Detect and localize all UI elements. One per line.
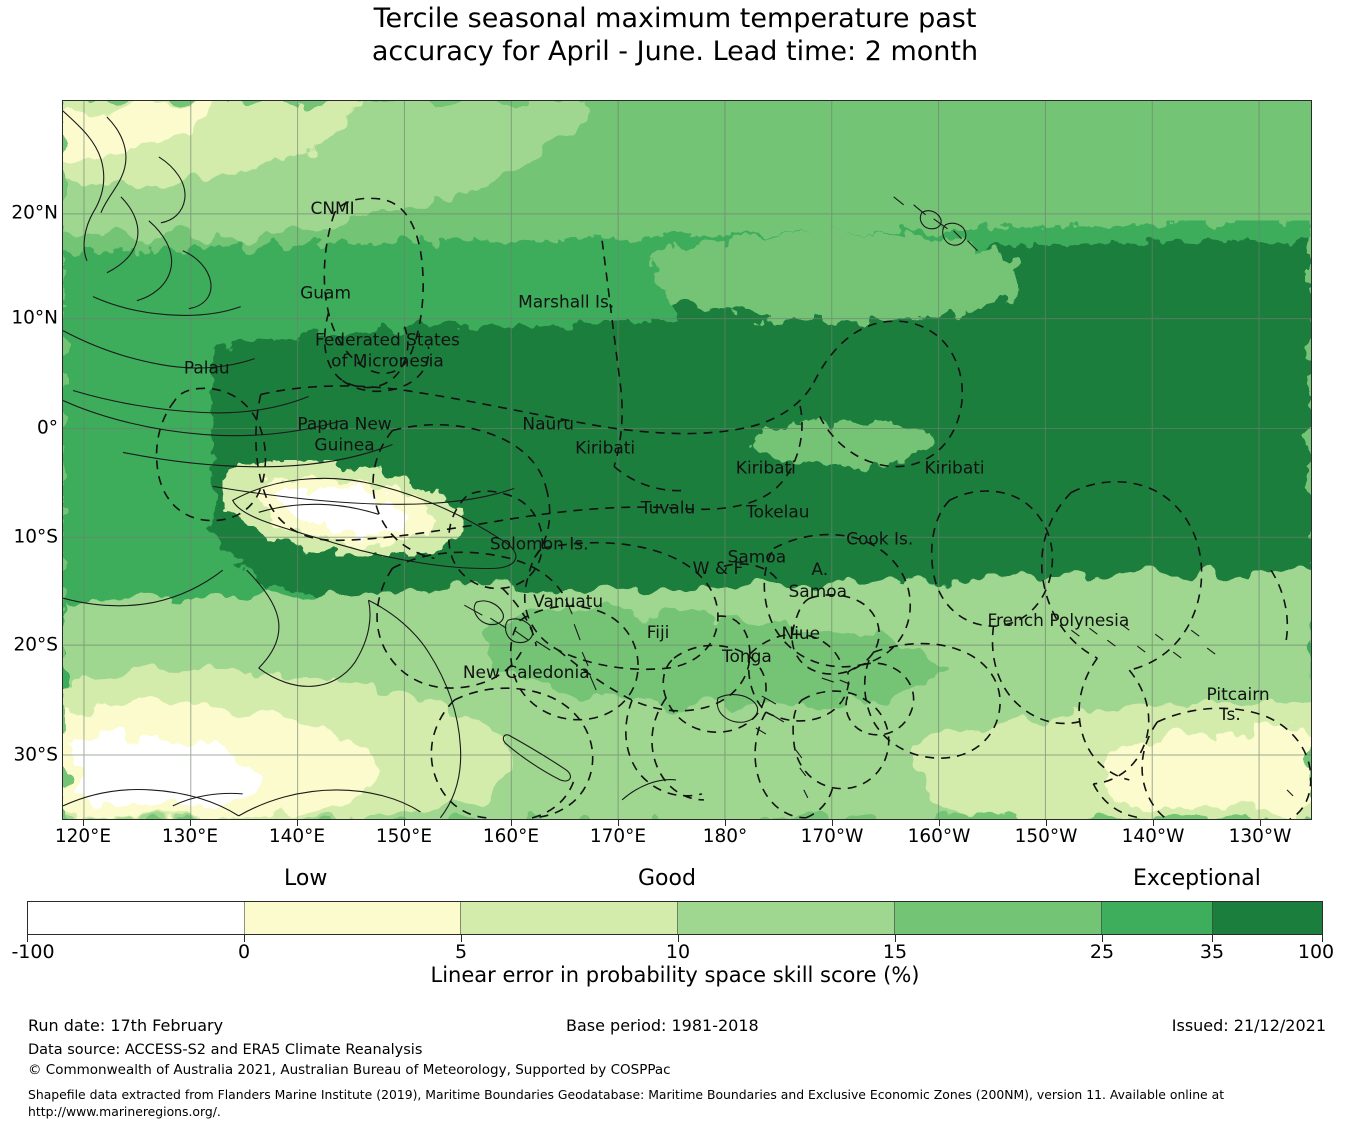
region-label: A. [811,560,828,580]
colorbar-tick-label: 35 [1200,941,1224,963]
region-label: Fiji [647,623,670,643]
y-axis-tick-label: 10°N [11,308,58,329]
run-date-text: Run date: 17th February [28,1016,223,1035]
x-axis-tick-label: 180° [703,826,748,847]
x-axis-tick-label: 120°E [55,826,111,847]
colorbar-axis-label: Linear error in probability space skill … [0,963,1350,987]
x-axis-tick-label: 130°W [1229,826,1292,847]
region-label: Kiribati [736,458,796,478]
x-axis-tick-label: 130°E [162,826,218,847]
y-axis-tick-label: 10°S [13,527,58,548]
region-label: Pitcairn [1207,685,1270,705]
colorbar-segment [1101,902,1211,934]
colorbar-category-good: Good [638,866,696,891]
region-label: Kiribati [575,438,635,458]
region-label: Palau [184,359,230,379]
region-label: Nauru [522,414,574,434]
region-label: Tuvalu [640,498,695,518]
colorbar-tick-label: 15 [883,941,907,963]
page-title: Tercile seasonal maximum temperature pas… [0,2,1350,68]
colorbar-tick-label: 5 [455,941,467,963]
y-axis-tick-label: 30°S [13,745,58,766]
colorbar-category-labels: Low Good Exceptional [0,866,1350,896]
colorbar-segment [244,902,461,934]
x-axis-tick-label: 170°E [590,826,646,847]
region-label: of Micronesia [331,352,444,372]
region-label: Cook Is. [846,529,913,549]
colorbar-segment [1212,902,1322,934]
region-label: Papua New [297,414,391,434]
shapefile-attribution-text: Shapefile data extracted from Flanders M… [28,1086,1318,1120]
region-label: Federated States [315,331,460,351]
data-source-text: Data source: ACCESS-S2 and ERA5 Climate … [28,1042,422,1058]
region-label: Solomon Is. [490,534,589,554]
base-period-text: Base period: 1981-2018 [566,1016,759,1035]
region-label: CNMI [310,199,354,219]
colorbar-category-exceptional: Exceptional [1133,866,1261,891]
metadata-row: Run date: 17th February Base period: 198… [0,1016,1350,1038]
y-axis-tick-label: 0° [37,418,58,439]
colorbar-tick-label: 10 [666,941,690,963]
region-label: New Caledonia [463,663,590,683]
colorbar-ticks: -100 0 5 10 15 25 35 100 [0,935,1350,961]
y-axis-tick-label: 20°S [13,635,58,656]
colorbar[interactable] [27,901,1323,935]
region-label: Samoa [789,582,847,602]
x-axis-tick-label: 140°E [269,826,325,847]
region-label: French Polynesia [988,611,1130,631]
region-label: W & F [693,559,744,579]
region-label: Kiribati [925,458,985,478]
colorbar-segment [677,902,894,934]
x-axis-tick-label: 170°W [801,826,864,847]
x-axis-tick-label: 140°W [1122,826,1185,847]
colorbar-tick-label: 100 [1298,941,1334,963]
colorbar-segment [28,902,244,934]
colorbar-segment [460,902,677,934]
y-axis-tick-label: 20°N [11,203,58,224]
region-label: Tokelau [745,502,809,522]
region-label: Marshall Is. [518,293,614,313]
region-label: Tonga [721,647,772,667]
colorbar-tick-label: 25 [1090,941,1114,963]
copyright-text: © Commonwealth of Australia 2021, Austra… [28,1062,671,1078]
x-axis-tick-label: 150°E [376,826,432,847]
x-axis-tick-label: 160°W [908,826,971,847]
map-plot-area[interactable]: CNMIGuamMarshall Is.PalauFederated State… [62,100,1312,820]
region-label: Is. [1221,705,1240,725]
region-label: Guam [300,284,351,304]
x-axis-tick-label: 160°E [483,826,539,847]
region-labels: CNMIGuamMarshall Is.PalauFederated State… [63,101,1311,820]
region-label: Vanuatu [533,592,603,612]
colorbar-segment [894,902,1101,934]
x-axis-tick-label: 150°W [1015,826,1078,847]
issued-date-text: Issued: 21/12/2021 [1172,1016,1326,1035]
colorbar-category-low: Low [284,866,327,891]
region-label: Niue [782,624,821,644]
colorbar-tick-label: -100 [11,941,54,963]
region-label: Guinea [314,435,374,455]
colorbar-tick-label: 0 [238,941,250,963]
map-figure: CNMIGuamMarshall Is.PalauFederated State… [62,100,1312,820]
